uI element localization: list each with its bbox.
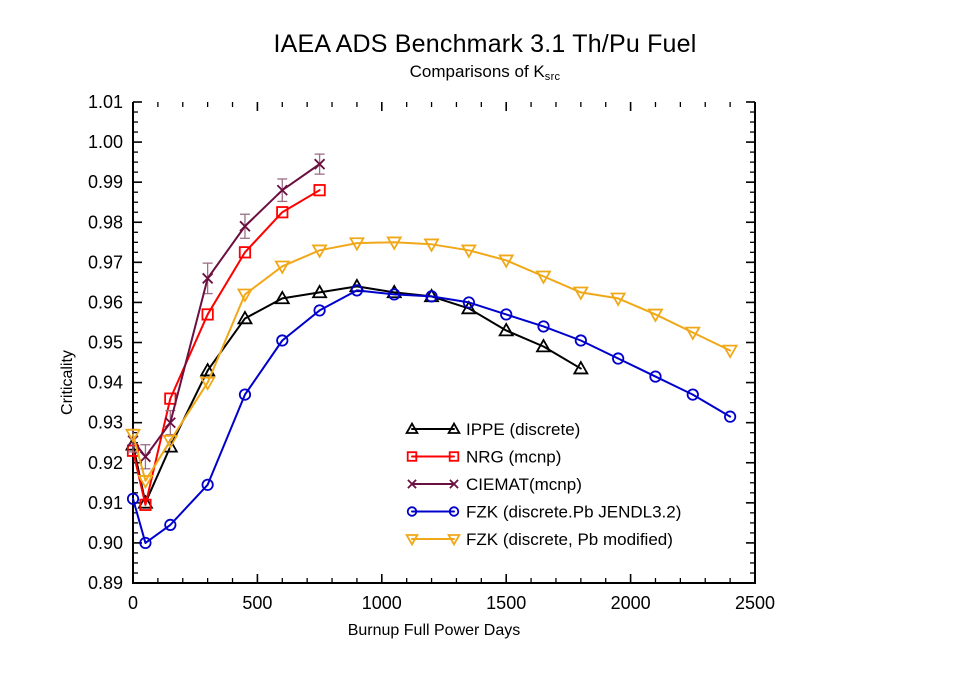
- y-tick-label: 1.01: [88, 92, 123, 112]
- legend-item-2[interactable]: CIEMAT(mcnp): [408, 475, 582, 494]
- y-tick-label: 0.91: [88, 493, 123, 513]
- legend-label: FZK (discrete, Pb modified): [466, 530, 673, 549]
- y-tick-label: 0.95: [88, 333, 123, 353]
- series-2: [128, 154, 325, 469]
- x-tick-label: 2000: [611, 593, 651, 613]
- x-tick-label: 1500: [486, 593, 526, 613]
- chart-canvas: IAEA ADS Benchmark 3.1 Th/Pu Fuel Compar…: [0, 0, 970, 685]
- legend-label: CIEMAT(mcnp): [466, 475, 582, 494]
- series-layer: [127, 154, 737, 548]
- legend-label: NRG (mcnp): [466, 448, 561, 467]
- y-tick-label: 0.94: [88, 373, 123, 393]
- y-tick-label: 1.00: [88, 132, 123, 152]
- x-tick-label: 2500: [735, 593, 775, 613]
- y-tick-label: 0.93: [88, 413, 123, 433]
- y-tick-label: 0.92: [88, 453, 123, 473]
- legend-label: IPPE (discrete): [466, 420, 580, 439]
- error-bars: [128, 154, 325, 469]
- series-line: [133, 190, 320, 505]
- y-tick-label: 0.89: [88, 573, 123, 593]
- x-tick-label: 500: [242, 593, 272, 613]
- legend-label: FZK (discrete.Pb JENDL3.2): [466, 503, 681, 522]
- y-tick-label: 0.98: [88, 212, 123, 232]
- y-tick-label: 0.99: [88, 172, 123, 192]
- y-tick-label: 0.97: [88, 252, 123, 272]
- x-tick-label: 0: [128, 593, 138, 613]
- y-tick-label: 0.90: [88, 533, 123, 553]
- legend-item-0[interactable]: IPPE (discrete): [407, 420, 581, 439]
- chart-legend: IPPE (discrete)NRG (mcnp)CIEMAT(mcnp)FZK…: [407, 420, 682, 549]
- series-line: [133, 242, 730, 481]
- series-4: [127, 237, 737, 487]
- x-axis-label: Burnup Full Power Days: [348, 622, 521, 639]
- series-line: [133, 164, 320, 457]
- x-tick-label: 1000: [362, 593, 402, 613]
- plot-area: 0.890.900.910.920.930.940.950.960.970.98…: [0, 0, 970, 685]
- y-tick-label: 0.96: [88, 292, 123, 312]
- legend-item-3[interactable]: FZK (discrete.Pb JENDL3.2): [408, 503, 682, 522]
- y-axis-label: Criticality: [59, 350, 76, 415]
- series-0: [127, 280, 588, 508]
- legend-item-1[interactable]: NRG (mcnp): [408, 448, 562, 467]
- legend-item-4[interactable]: FZK (discrete, Pb modified): [407, 530, 673, 549]
